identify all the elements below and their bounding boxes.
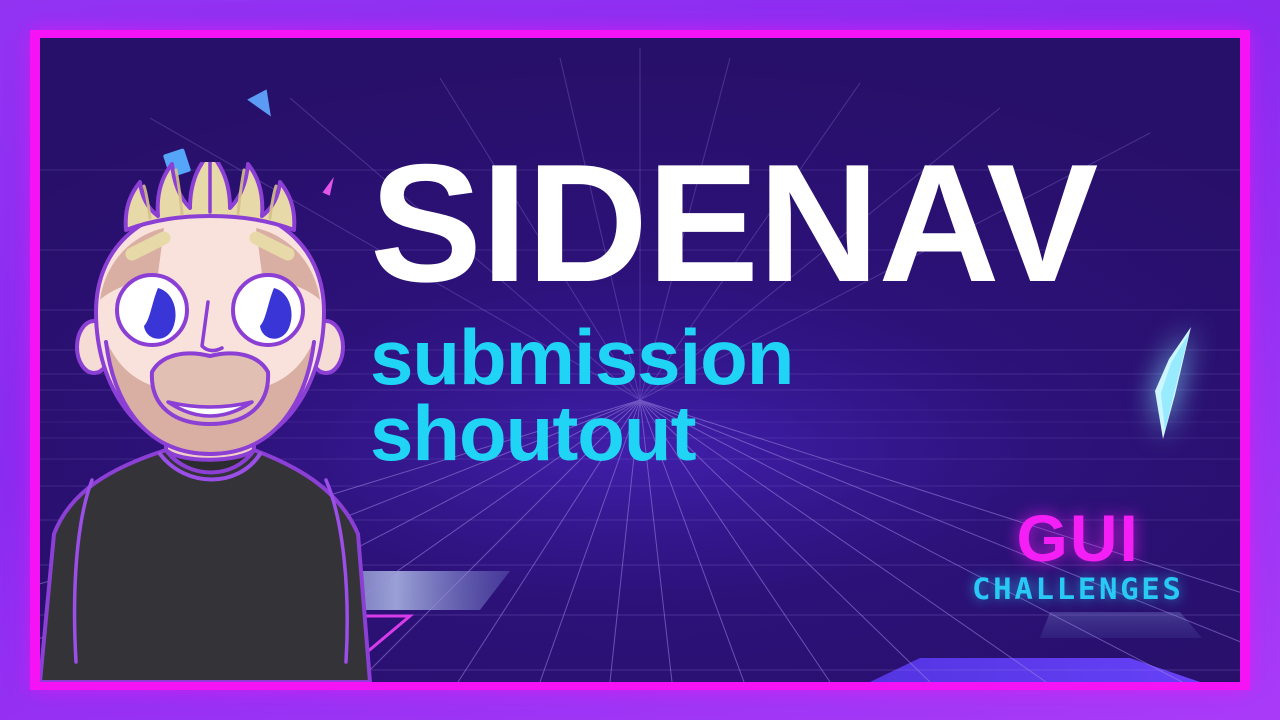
title-block: SIDENAV submission shoutout: [370, 146, 1190, 471]
video-thumbnail: SIDENAV submission shoutout GUI CHALLENG…: [0, 0, 1280, 720]
subtitle-line-1: submission: [370, 313, 793, 401]
brand-logo: GUI CHALLENGES: [978, 505, 1178, 604]
stage-background: SIDENAV submission shoutout GUI CHALLENG…: [40, 38, 1240, 682]
page-title: SIDENAV: [370, 146, 1190, 301]
confetti-triangle-blue-icon: [247, 89, 279, 122]
brand-secondary-text: CHALLENGES: [972, 575, 1184, 604]
subtitle-line-2: shoutout: [370, 395, 1190, 471]
subtitle: submission shoutout: [370, 319, 1190, 472]
brand-primary-text: GUI: [978, 505, 1178, 571]
host-avatar: [40, 162, 420, 682]
